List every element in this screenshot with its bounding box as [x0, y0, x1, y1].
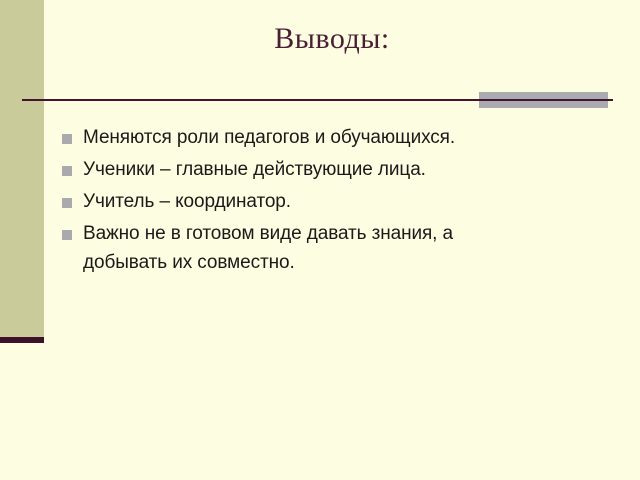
divider-rule-line — [22, 99, 613, 101]
slide-canvas: Выводы: Меняются роли педагогов и обучаю… — [0, 0, 640, 480]
slide-title: Выводы: — [44, 22, 620, 55]
list-item-label: Ученики – главные действующие лица. — [83, 156, 503, 185]
left-accent-band — [0, 0, 44, 337]
list-item-label: Меняются роли педагогов и обучающихся. — [83, 124, 503, 153]
list-item-label: Важно не в готовом виде давать знания, а… — [83, 220, 503, 278]
list-item: Учитель – координатор. — [62, 188, 582, 218]
bullet-list: Меняются роли педагогов и обучающихся. У… — [62, 124, 582, 280]
square-bullet-icon — [62, 198, 72, 208]
list-item: Меняются роли педагогов и обучающихся. — [62, 124, 582, 154]
list-item-label: Учитель – координатор. — [83, 188, 503, 217]
square-bullet-icon — [62, 166, 72, 176]
list-item: Важно не в готовом виде давать знания, а… — [62, 220, 582, 278]
square-bullet-icon — [62, 134, 72, 144]
left-accent-band-footer — [0, 337, 44, 343]
title-divider — [0, 92, 640, 114]
list-item: Ученики – главные действующие лица. — [62, 156, 582, 186]
square-bullet-icon — [62, 230, 72, 240]
